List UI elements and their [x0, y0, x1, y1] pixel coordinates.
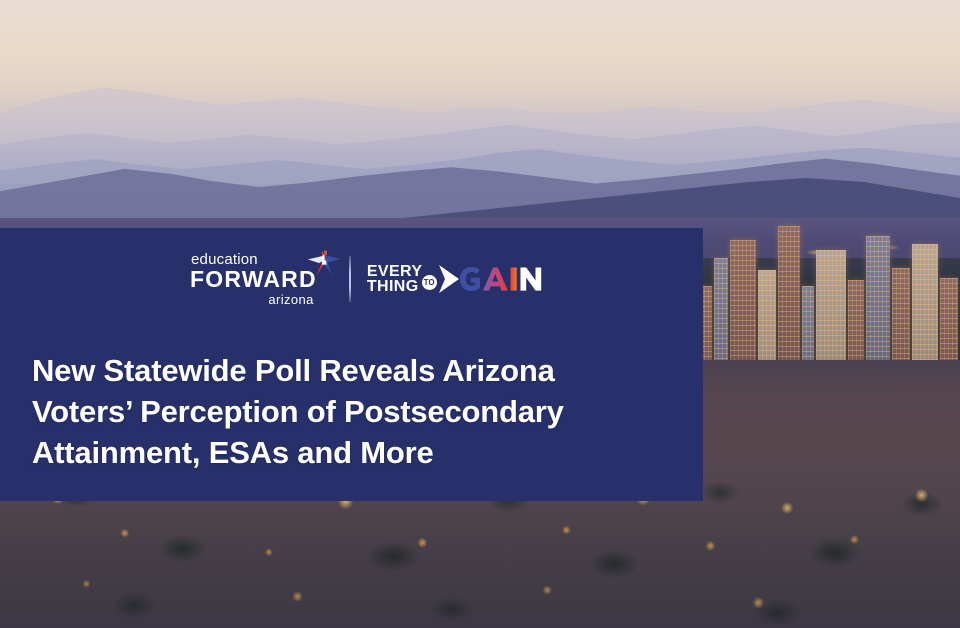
education-forward-arizona-logo[interactable]: education FORWARD arizona: [190, 252, 327, 306]
ef-logo-line-education: education: [191, 252, 258, 267]
etg-line-thing: THING: [367, 279, 419, 294]
etg-line-thing-row: THING TO: [367, 279, 437, 294]
banner-stage: education FORWARD arizona: [0, 0, 960, 628]
navy-content-panel: education FORWARD arizona: [0, 228, 703, 501]
etg-to-badge: TO: [422, 275, 437, 290]
page-title: New Statewide Poll Reveals Arizona Voter…: [32, 350, 682, 474]
page-title-line-1: New Statewide Poll Reveals Arizona: [32, 350, 682, 391]
logo-lockup: education FORWARD arizona: [190, 250, 551, 308]
ef-logo-line-forward: FORWARD: [190, 268, 317, 291]
page-title-line-2: Voters’ Perception of Postsecondary: [32, 391, 682, 432]
logo-divider: [349, 256, 351, 302]
page-title-line-3: Attainment, ESAs and More: [32, 432, 682, 473]
etg-wordstack: EVERY THING TO: [367, 264, 437, 295]
star-with-flame-icon: [307, 246, 341, 276]
everything-to-gain-logo[interactable]: EVERY THING TO: [367, 262, 551, 296]
ef-logo-line-arizona: arizona: [268, 293, 313, 306]
gain-wordmark: [455, 262, 551, 296]
